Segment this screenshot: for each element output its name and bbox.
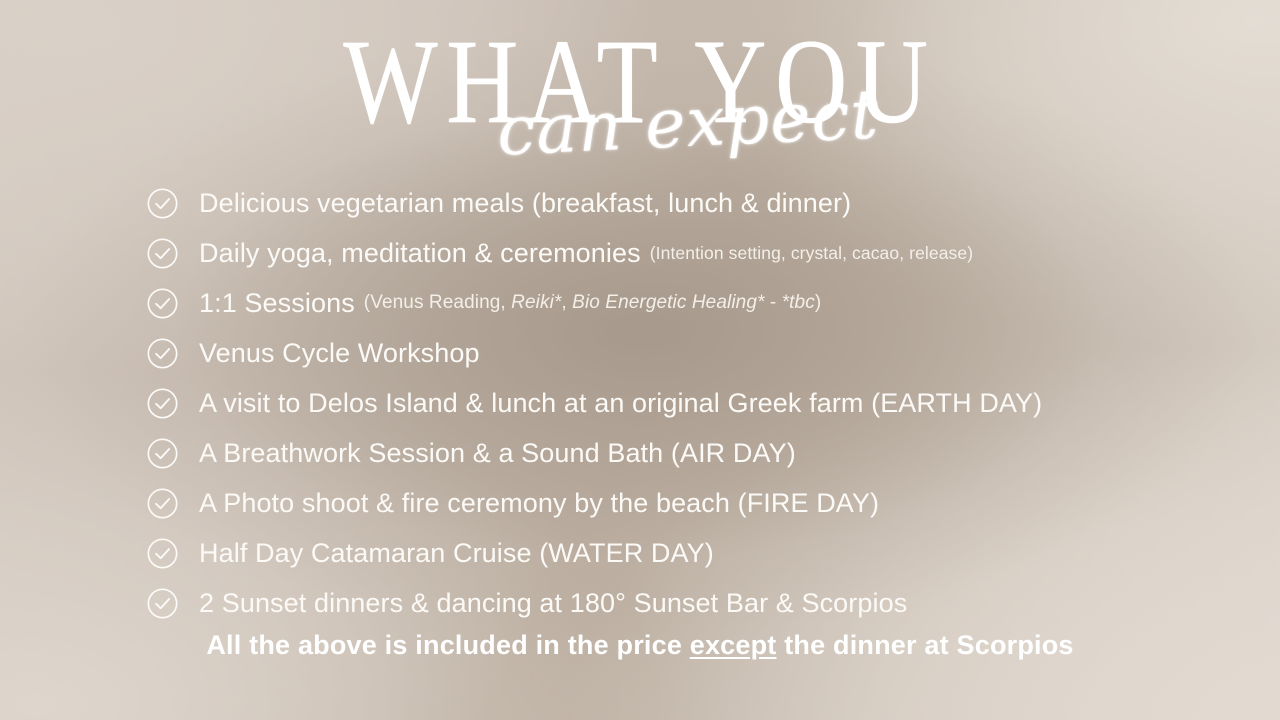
list-item-label: A Breathwork Session & a Sound Bath (AIR… bbox=[199, 438, 796, 469]
check-circle-icon bbox=[146, 237, 179, 270]
list-item-label: A visit to Delos Island & lunch at an or… bbox=[199, 388, 1042, 419]
check-circle-icon bbox=[146, 437, 179, 470]
list-item: A Breathwork Session & a Sound Bath (AIR… bbox=[146, 428, 1246, 478]
note-prefix: (Venus Reading, bbox=[364, 292, 511, 313]
heading-script-title: can expect bbox=[496, 81, 881, 166]
list-item: A visit to Delos Island & lunch at an or… bbox=[146, 378, 1246, 428]
slide-canvas: WHAT YOU can expect Delicious vegetarian… bbox=[0, 0, 1280, 720]
check-circle-icon bbox=[146, 587, 179, 620]
note-suffix: ) bbox=[815, 292, 821, 313]
note-italic-tbc: *tbc bbox=[782, 292, 815, 313]
list-item: Half Day Catamaran Cruise (WATER DAY) bbox=[146, 528, 1246, 578]
note-separator: - bbox=[764, 292, 781, 313]
check-circle-icon bbox=[146, 487, 179, 520]
list-item-label: A Photo shoot & fire ceremony by the bea… bbox=[199, 488, 879, 519]
list-item: 1:1 Sessions (Venus Reading, Reiki*, Bio… bbox=[146, 278, 1246, 328]
list-item: Delicious vegetarian meals (breakfast, l… bbox=[146, 178, 1246, 228]
list-item: Daily yoga, meditation & ceremonies (Int… bbox=[146, 228, 1246, 278]
list-item-note: (Intention setting, crystal, cacao, rele… bbox=[650, 243, 973, 264]
list-item-label: Delicious vegetarian meals (breakfast, l… bbox=[199, 188, 851, 219]
footer-part-2: the dinner at Scorpios bbox=[777, 630, 1074, 660]
check-circle-icon bbox=[146, 387, 179, 420]
check-circle-icon bbox=[146, 287, 179, 320]
footer-note: All the above is included in the price e… bbox=[0, 630, 1280, 661]
list-item-label: Half Day Catamaran Cruise (WATER DAY) bbox=[199, 538, 714, 569]
note-mid: , bbox=[561, 292, 572, 313]
expectations-list: Delicious vegetarian meals (breakfast, l… bbox=[146, 178, 1246, 628]
check-circle-icon bbox=[146, 187, 179, 220]
check-circle-icon bbox=[146, 537, 179, 570]
heading: WHAT YOU can expect bbox=[0, 18, 1280, 168]
footer-emphasis-except: except bbox=[690, 630, 777, 660]
list-item-label: 2 Sunset dinners & dancing at 180° Sunse… bbox=[199, 588, 907, 619]
list-item-label: 1:1 Sessions bbox=[199, 288, 355, 319]
note-italic-bio-energetic: Bio Energetic Healing* bbox=[572, 292, 764, 313]
footer-part-1: All the above is included in the price bbox=[206, 630, 689, 660]
list-item-label: Venus Cycle Workshop bbox=[199, 338, 480, 369]
list-item-note: (Venus Reading, Reiki*, Bio Energetic He… bbox=[364, 292, 821, 314]
check-circle-icon bbox=[146, 337, 179, 370]
note-italic-reiki: Reiki* bbox=[511, 292, 561, 313]
list-item: A Photo shoot & fire ceremony by the bea… bbox=[146, 478, 1246, 528]
list-item-label: Daily yoga, meditation & ceremonies bbox=[199, 238, 641, 269]
list-item: 2 Sunset dinners & dancing at 180° Sunse… bbox=[146, 578, 1246, 628]
list-item: Venus Cycle Workshop bbox=[146, 328, 1246, 378]
